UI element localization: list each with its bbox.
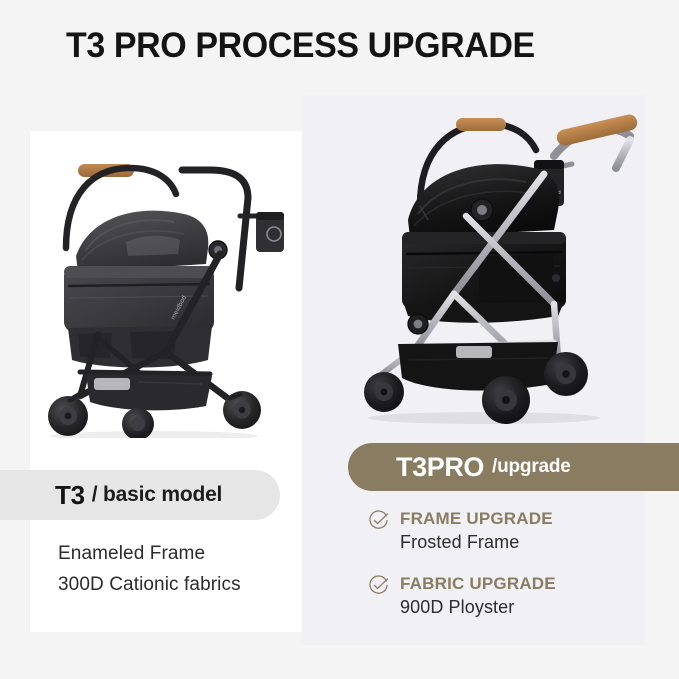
basic-spec-list: Enameled Frame 300D Cationic fabrics bbox=[58, 538, 298, 600]
basic-model-badge: T3 / basic model bbox=[0, 470, 280, 520]
feature-fabric-detail: 900D Ployster bbox=[400, 597, 514, 617]
feature-frame-text: FRAME UPGRADE Frosted Frame bbox=[400, 508, 648, 556]
infographic-canvas: T3 PRO PROCESS UPGRADE bbox=[0, 0, 679, 679]
pro-badge-qualifier: /upgrade bbox=[492, 456, 571, 478]
feature-frame-heading: FRAME UPGRADE bbox=[400, 509, 553, 528]
feature-frame-detail: Frosted Frame bbox=[400, 532, 519, 552]
feature-fabric-upgrade: FABRIC UPGRADE 900D Ployster bbox=[368, 573, 648, 621]
basic-stroller-image: meidbod bbox=[34, 138, 300, 438]
feature-fabric-text: FABRIC UPGRADE 900D Ployster bbox=[400, 573, 648, 621]
basic-badge-model: T3 bbox=[55, 480, 85, 511]
pro-stroller-image: meidbod bbox=[358, 98, 648, 428]
feature-frame-upgrade: FRAME UPGRADE Frosted Frame bbox=[368, 508, 648, 556]
basic-spec-fabric: 300D Cationic fabrics bbox=[58, 569, 298, 600]
check-circle-icon bbox=[368, 575, 389, 596]
basic-badge-qualifier: / basic model bbox=[92, 483, 222, 507]
basic-spec-frame: Enameled Frame bbox=[58, 538, 298, 569]
check-circle-icon bbox=[368, 510, 389, 531]
feature-fabric-heading: FABRIC UPGRADE bbox=[400, 574, 556, 593]
pro-feature-list: FRAME UPGRADE Frosted Frame FABRIC UPGRA… bbox=[368, 508, 648, 638]
pro-model-badge: T3PRO /upgrade bbox=[348, 443, 679, 491]
page-title: T3 PRO PROCESS UPGRADE bbox=[66, 26, 535, 66]
pro-badge-model: T3PRO bbox=[396, 452, 484, 483]
